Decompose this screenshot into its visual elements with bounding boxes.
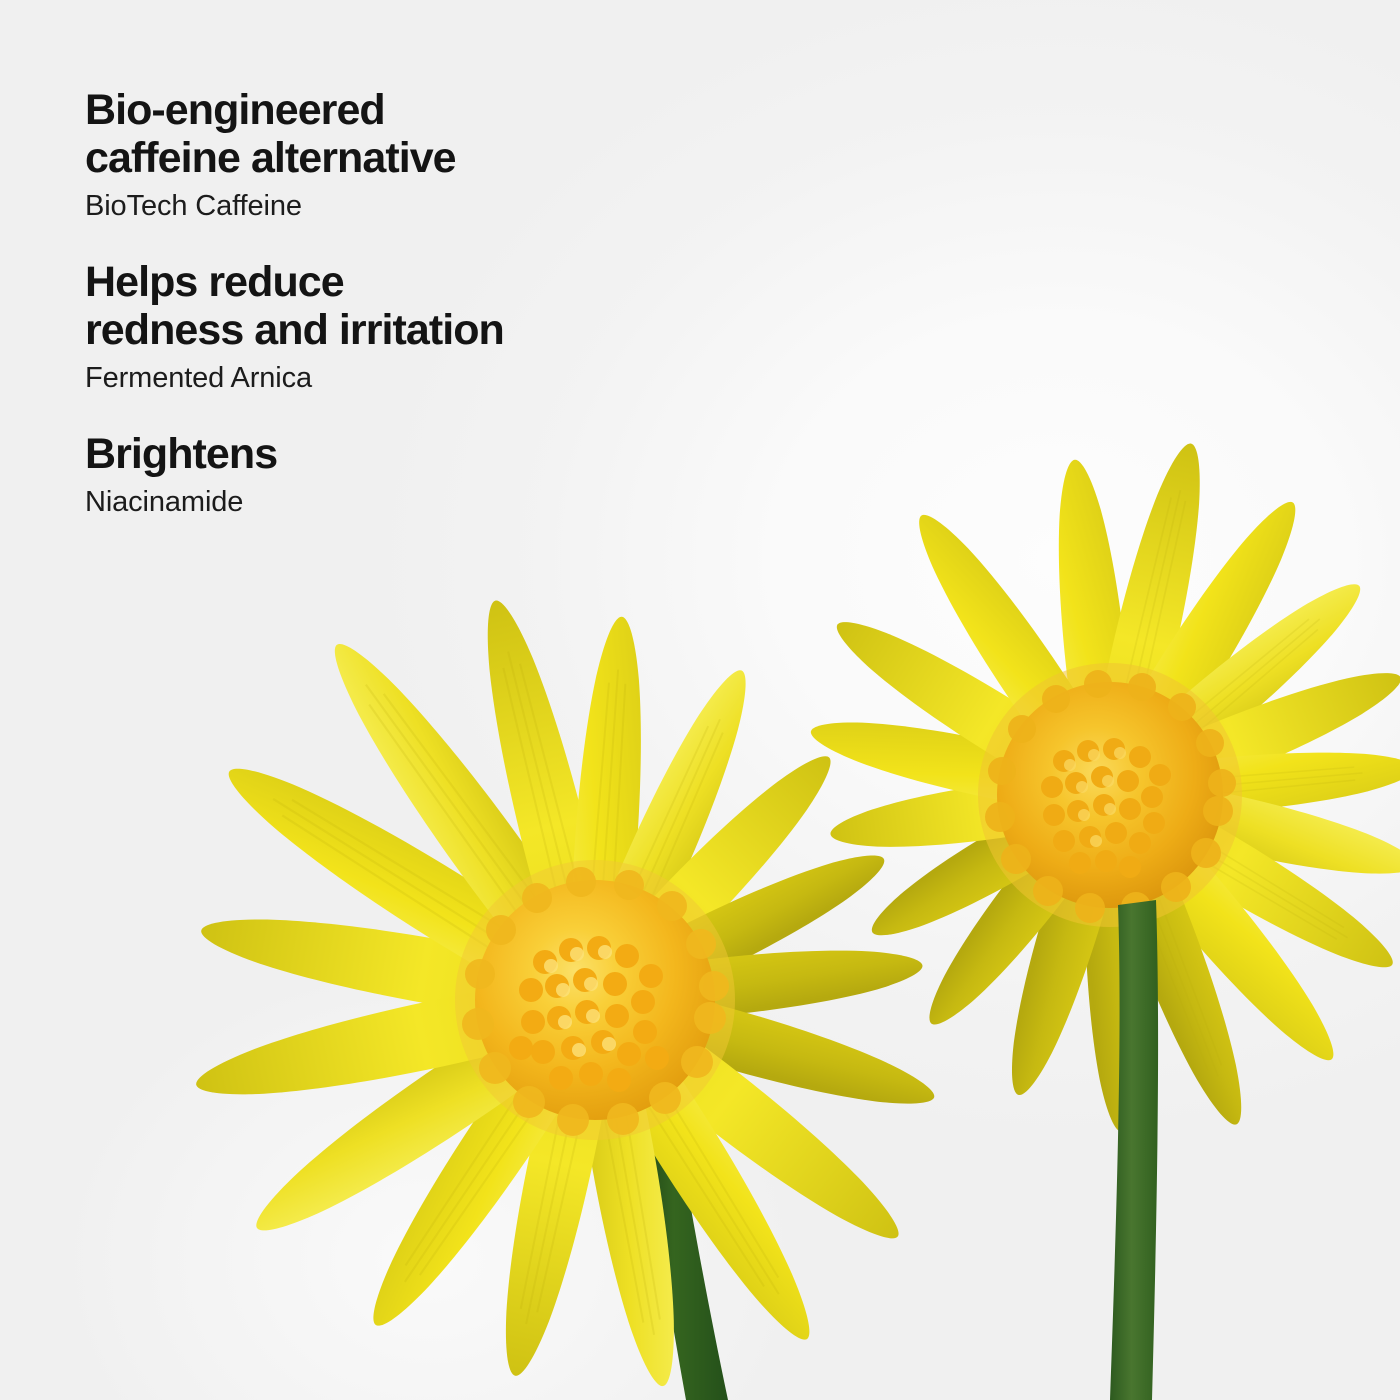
back-flower [805, 437, 1400, 1136]
benefit-ingredient-2: Fermented Arnica [85, 361, 725, 396]
front-flower [189, 593, 942, 1392]
benefit-ingredient-1: BioTech Caffeine [85, 189, 725, 224]
benefit-item-3: Brightens Niacinamide [85, 430, 725, 520]
benefit-headline-1: Bio-engineered caffeine alternative [85, 86, 725, 182]
benefit-item-1: Bio-engineered caffeine alternative BioT… [85, 86, 725, 224]
benefit-list: Bio-engineered caffeine alternative BioT… [85, 86, 725, 520]
product-benefit-card: Bio-engineered caffeine alternative BioT… [0, 0, 1400, 1400]
benefit-item-2: Helps reduce redness and irritation Ferm… [85, 258, 725, 396]
benefit-ingredient-3: Niacinamide [85, 485, 725, 520]
benefit-headline-2: Helps reduce redness and irritation [85, 258, 725, 354]
benefit-headline-3: Brightens [85, 430, 725, 478]
